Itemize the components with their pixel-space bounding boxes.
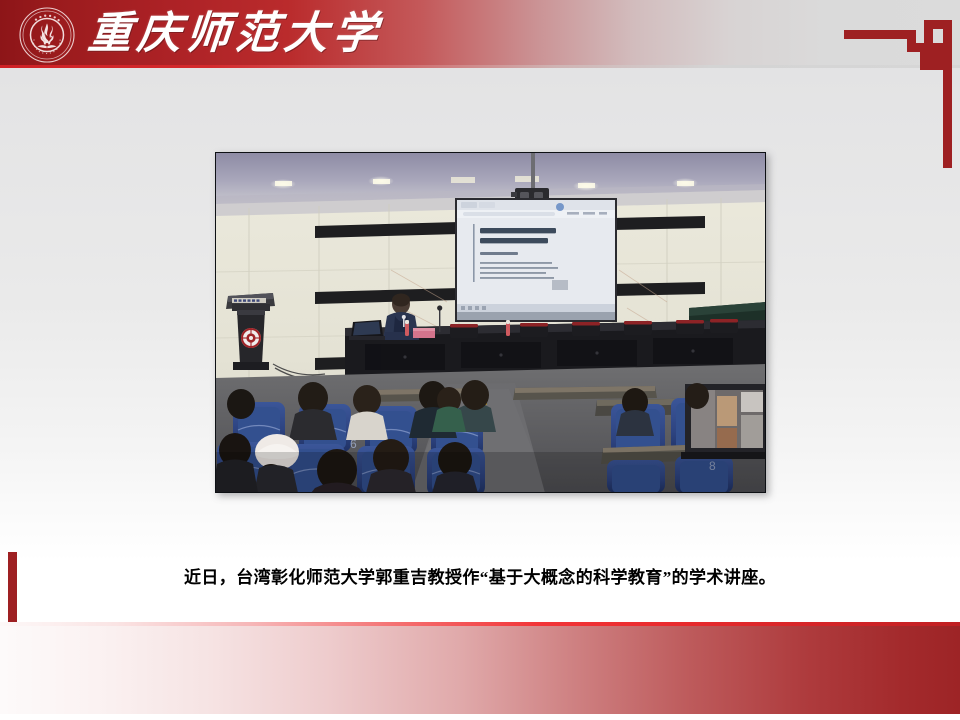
- university-seal-icon: [19, 7, 75, 63]
- header-band: 重庆师范大学: [0, 0, 960, 68]
- lecture-photo: 8: [215, 152, 766, 493]
- footer-baseline: [0, 714, 960, 720]
- footer-band: [0, 622, 960, 714]
- lecture-photo-image: 8: [215, 152, 766, 493]
- footer-accent-line: [0, 622, 960, 626]
- university-name: 重庆师范大学: [85, 4, 384, 64]
- slide-root: 重庆师范大学: [0, 0, 960, 720]
- photo-caption: 近日，台湾彰化师范大学郭重吉教授作“基于大概念的科学教育”的学术讲座。: [0, 563, 960, 588]
